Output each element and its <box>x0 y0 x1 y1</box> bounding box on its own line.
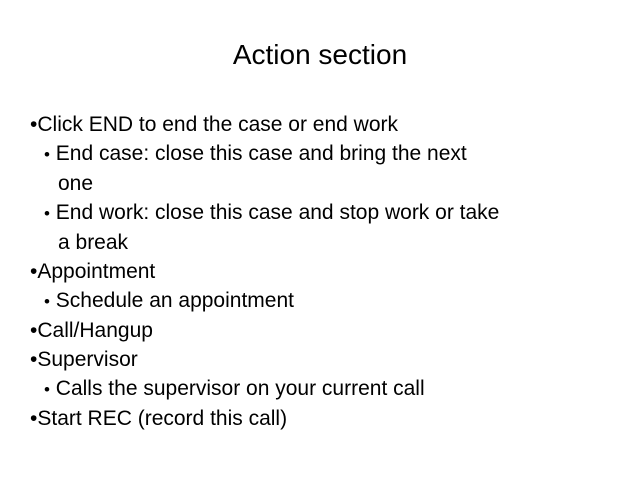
bullet-list: •Click END to end the case or end work• … <box>26 110 626 433</box>
list-item: •Supervisor <box>26 345 626 374</box>
list-item: • End work: close this case and stop wor… <box>26 198 626 228</box>
list-item-label: Supervisor <box>37 348 137 371</box>
list-item-label: one <box>58 172 93 195</box>
list-item: •Start REC (record this call) <box>26 404 626 433</box>
list-item-label: Call/Hangup <box>37 319 153 342</box>
list-item-label: End work: close this case and stop work … <box>56 201 500 224</box>
list-item-label: Start REC (record this call) <box>37 407 287 430</box>
list-item-label: Calls the supervisor on your current cal… <box>56 377 425 400</box>
page-title: Action section <box>0 38 640 72</box>
list-item: • End case: close this case and bring th… <box>26 139 626 169</box>
list-item-label: Schedule an appointment <box>56 289 294 312</box>
list-item-continuation: a break <box>26 228 626 257</box>
list-item: • Schedule an appointment <box>26 286 626 316</box>
slide-canvas: Action section •Click END to end the cas… <box>0 0 640 480</box>
list-item: •Appointment <box>26 257 626 286</box>
list-item-label: a break <box>58 231 128 254</box>
list-item: • Calls the supervisor on your current c… <box>26 374 626 404</box>
list-item-label: Click END to end the case or end work <box>37 113 398 136</box>
list-item-continuation: one <box>26 169 626 198</box>
list-item-label: Appointment <box>37 260 155 283</box>
list-item-label: End case: close this case and bring the … <box>56 142 467 165</box>
list-item: •Click END to end the case or end work <box>26 110 626 139</box>
list-item: •Call/Hangup <box>26 316 626 345</box>
